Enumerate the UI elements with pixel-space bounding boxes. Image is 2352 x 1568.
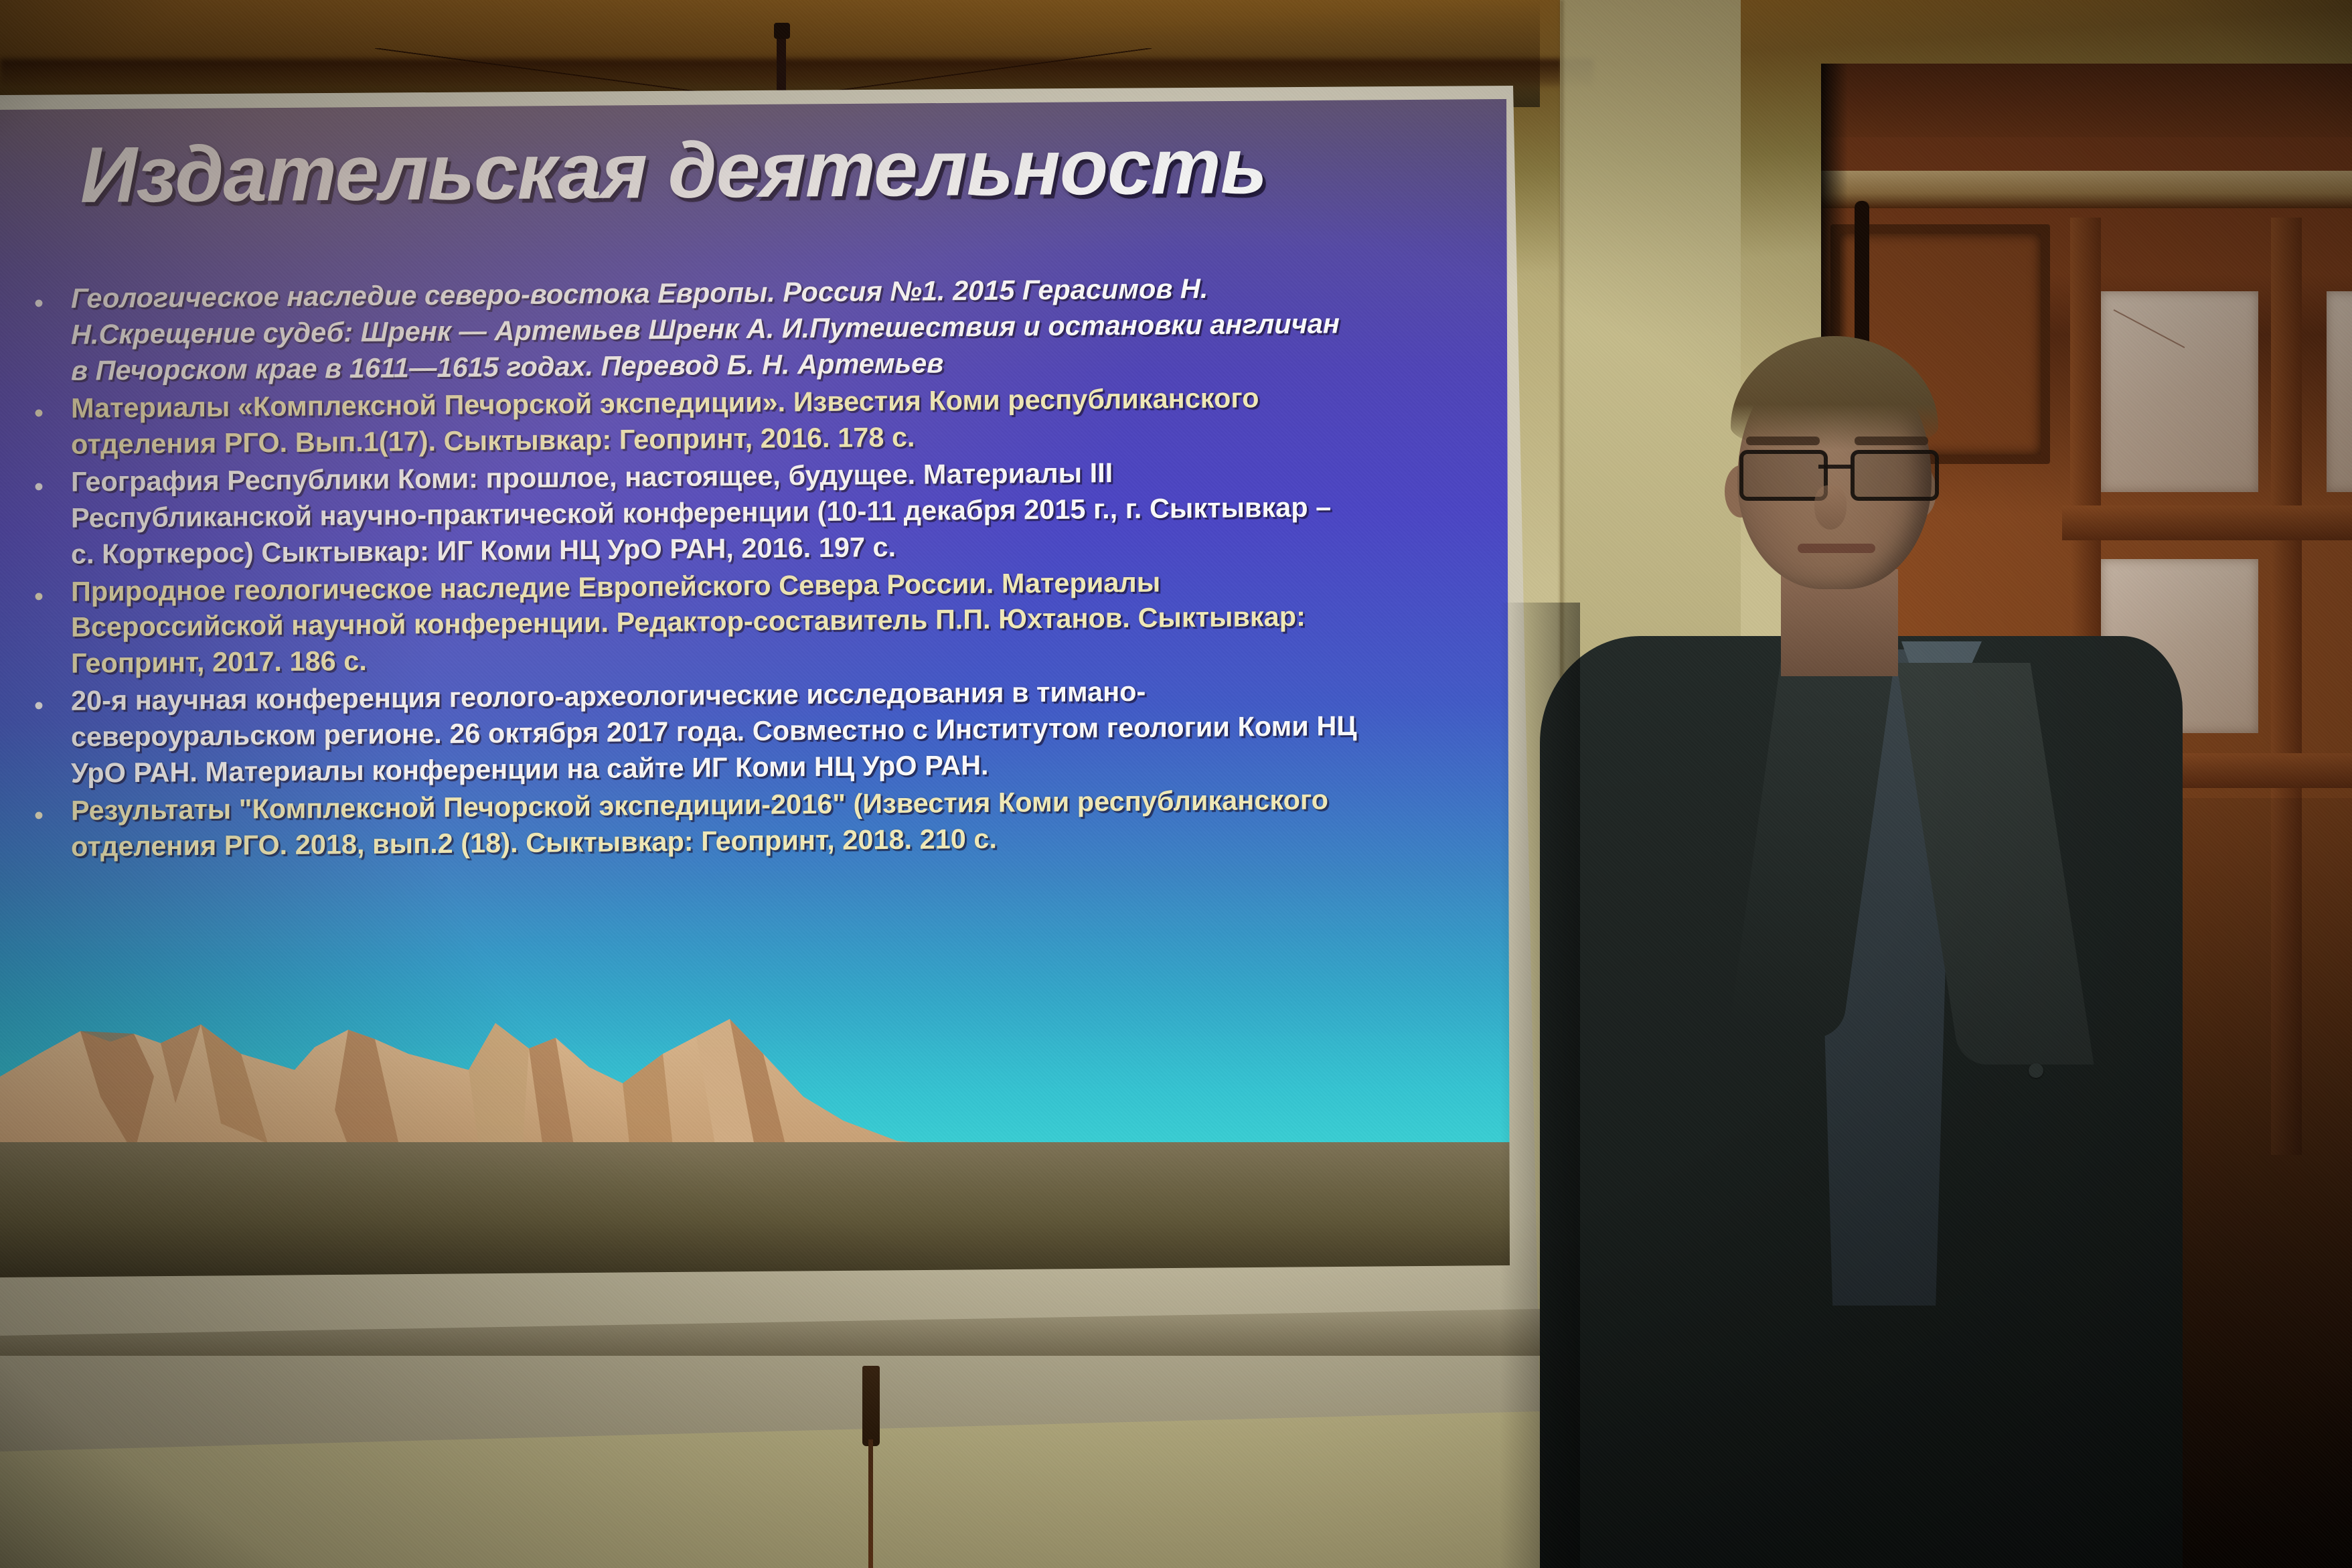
- presenter-eyebrow-right: [1855, 437, 1928, 445]
- screen-roller-rod: [1855, 201, 1869, 362]
- list-item-text: 20-я научная конференция геолого-археоло…: [71, 671, 1480, 791]
- bullet-marker-icon: •: [7, 793, 71, 835]
- list-item: • Материалы «Комплексной Печорской экспе…: [7, 378, 1480, 463]
- slide-bullet-list: • Геологическое наследие северо-востока …: [7, 268, 1480, 866]
- bullet-marker-icon: •: [7, 281, 71, 323]
- presenter-jacket-button: [2029, 1063, 2043, 1078]
- photo-scene: Издательская деятельность • Геологическо…: [0, 0, 2352, 1568]
- mountain-range-illustration: [0, 990, 1510, 1277]
- presenter-nose: [1814, 485, 1847, 530]
- presenter: [1500, 348, 2169, 1568]
- list-item-text: География Республики Коми: прошлое, наст…: [71, 451, 1480, 572]
- eyeglass-lens-right: [1851, 450, 1939, 501]
- screen-pull-handle[interactable]: [862, 1366, 880, 1446]
- mountain-svg: [0, 990, 1510, 1277]
- screen-ceiling-mount: [375, 15, 1152, 88]
- list-item: • Результаты "Комплексной Печорской эксп…: [7, 781, 1480, 866]
- list-item: • География Республики Коми: прошлое, на…: [7, 451, 1480, 572]
- ground-plane: [0, 1142, 1510, 1277]
- door-lintel: [1821, 64, 2352, 137]
- presenter-edge-shadow: [1500, 603, 1580, 1568]
- eyeglass-lens-left: [1739, 450, 1828, 501]
- projected-slide: Издательская деятельность • Геологическо…: [0, 99, 1510, 1277]
- bullet-marker-icon: •: [7, 683, 71, 725]
- bullet-marker-icon: •: [7, 573, 71, 615]
- presenter-mouth: [1798, 544, 1875, 553]
- list-item: • Природное геологическое наследие Европ…: [7, 561, 1480, 682]
- door-glass-pane: [2327, 291, 2352, 492]
- presenter-eyebrow-left: [1746, 437, 1820, 445]
- bullet-marker-icon: •: [7, 463, 71, 505]
- list-item: • 20-я научная конференция геолого-архео…: [7, 671, 1480, 792]
- screen-pull-cord[interactable]: [868, 1439, 873, 1568]
- mount-cap: [774, 23, 790, 39]
- door-top-rail: [1821, 171, 2352, 208]
- list-item-text: Результаты "Комплексной Печорской экспед…: [71, 781, 1480, 865]
- list-item-text: Материалы «Комплексной Печорской экспеди…: [71, 378, 1480, 462]
- bullet-marker-icon: •: [7, 390, 71, 433]
- list-item-text: Природное геологическое наследие Европей…: [71, 561, 1480, 682]
- slide-title: Издательская деятельность: [80, 119, 1419, 221]
- presenter-hair: [1731, 336, 1938, 450]
- eyeglass-bridge: [1818, 465, 1852, 469]
- list-item-text: Геологическое наследие северо-востока Ев…: [71, 268, 1480, 388]
- list-item: • Геологическое наследие северо-востока …: [7, 268, 1480, 389]
